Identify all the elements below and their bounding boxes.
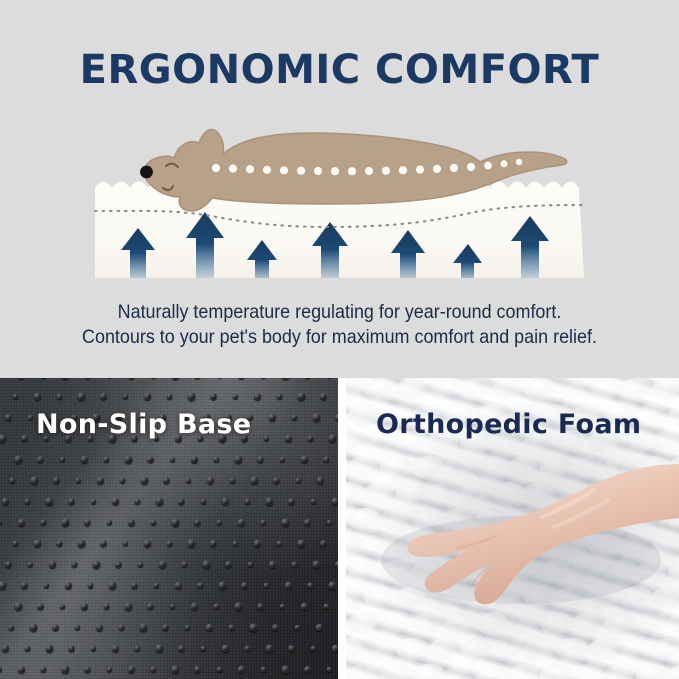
feature-description: Naturally temperature regulating for yea… xyxy=(0,300,679,350)
panel-label-non-slip-base: Non-Slip Base xyxy=(36,409,251,440)
product-feature-infographic: ERGONOMIC COMFORT xyxy=(0,0,679,679)
panel-non-slip-base: Non-Slip Base xyxy=(0,378,338,679)
description-line-1: Naturally temperature regulating for yea… xyxy=(27,300,652,325)
description-line-2: Contours to your pet's body for maximum … xyxy=(27,325,652,350)
feature-panels-row: Non-Slip Base xyxy=(0,378,679,679)
ergonomic-comfort-panel: ERGONOMIC COMFORT xyxy=(0,0,679,378)
panel-orthopedic-foam: Orthopedic Foam xyxy=(346,378,679,679)
panel-label-orthopedic-foam: Orthopedic Foam xyxy=(376,409,641,440)
ergonomic-support-illustration xyxy=(0,110,679,285)
page-title: ERGONOMIC COMFORT xyxy=(0,47,679,93)
